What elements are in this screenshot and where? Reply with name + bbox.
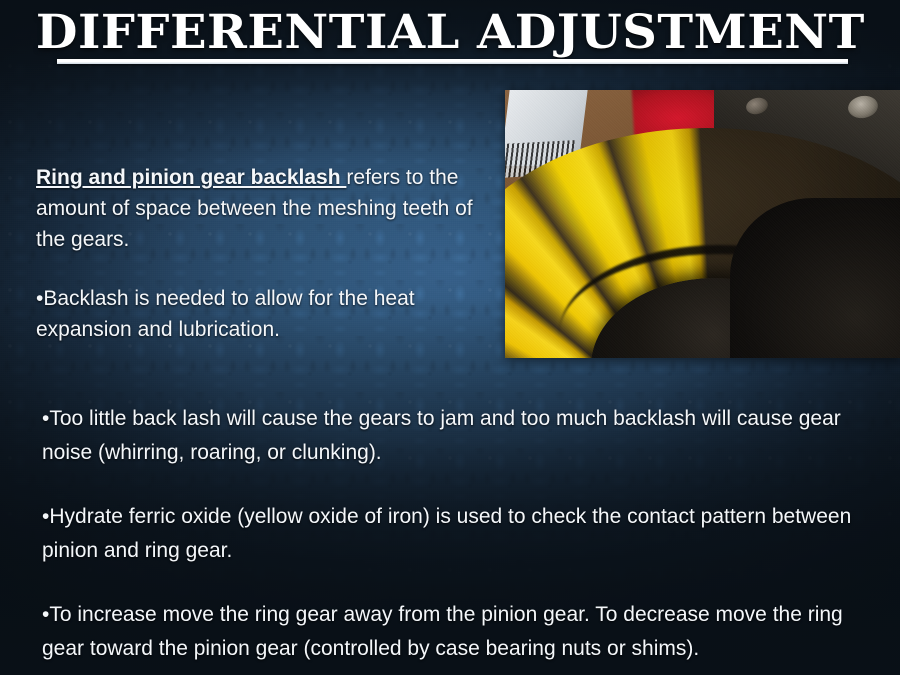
- slide-title: DIFFERENTIAL ADJUSTMENT: [36, 8, 865, 58]
- title-underline-rule: [57, 59, 848, 64]
- lower-text-block: •Too little back lash will cause the gea…: [42, 402, 860, 666]
- slide-title-container: DIFFERENTIAL ADJUSTMENT: [0, 8, 900, 58]
- lead-term: Ring and pinion gear backlash: [36, 166, 346, 189]
- upper-text-block: Ring and pinion gear backlash refers to …: [36, 162, 502, 345]
- paragraph-adjust-backlash: •To increase move the ring gear away fro…: [42, 598, 860, 666]
- photo-inner: [505, 90, 900, 358]
- ring-gear-photo: [505, 90, 900, 358]
- paragraph-ferric-oxide: •Hydrate ferric oxide (yellow oxide of i…: [42, 500, 860, 568]
- paragraph-too-little-backlash: •Too little back lash will cause the gea…: [42, 402, 860, 470]
- slide: DIFFERENTIAL ADJUSTMENT Ring and pinion …: [0, 0, 900, 675]
- paragraph-definition: Ring and pinion gear backlash refers to …: [36, 162, 502, 255]
- photo-grain-texture: [505, 90, 900, 358]
- paragraph-backlash-purpose: •Backlash is needed to allow for the hea…: [36, 283, 502, 345]
